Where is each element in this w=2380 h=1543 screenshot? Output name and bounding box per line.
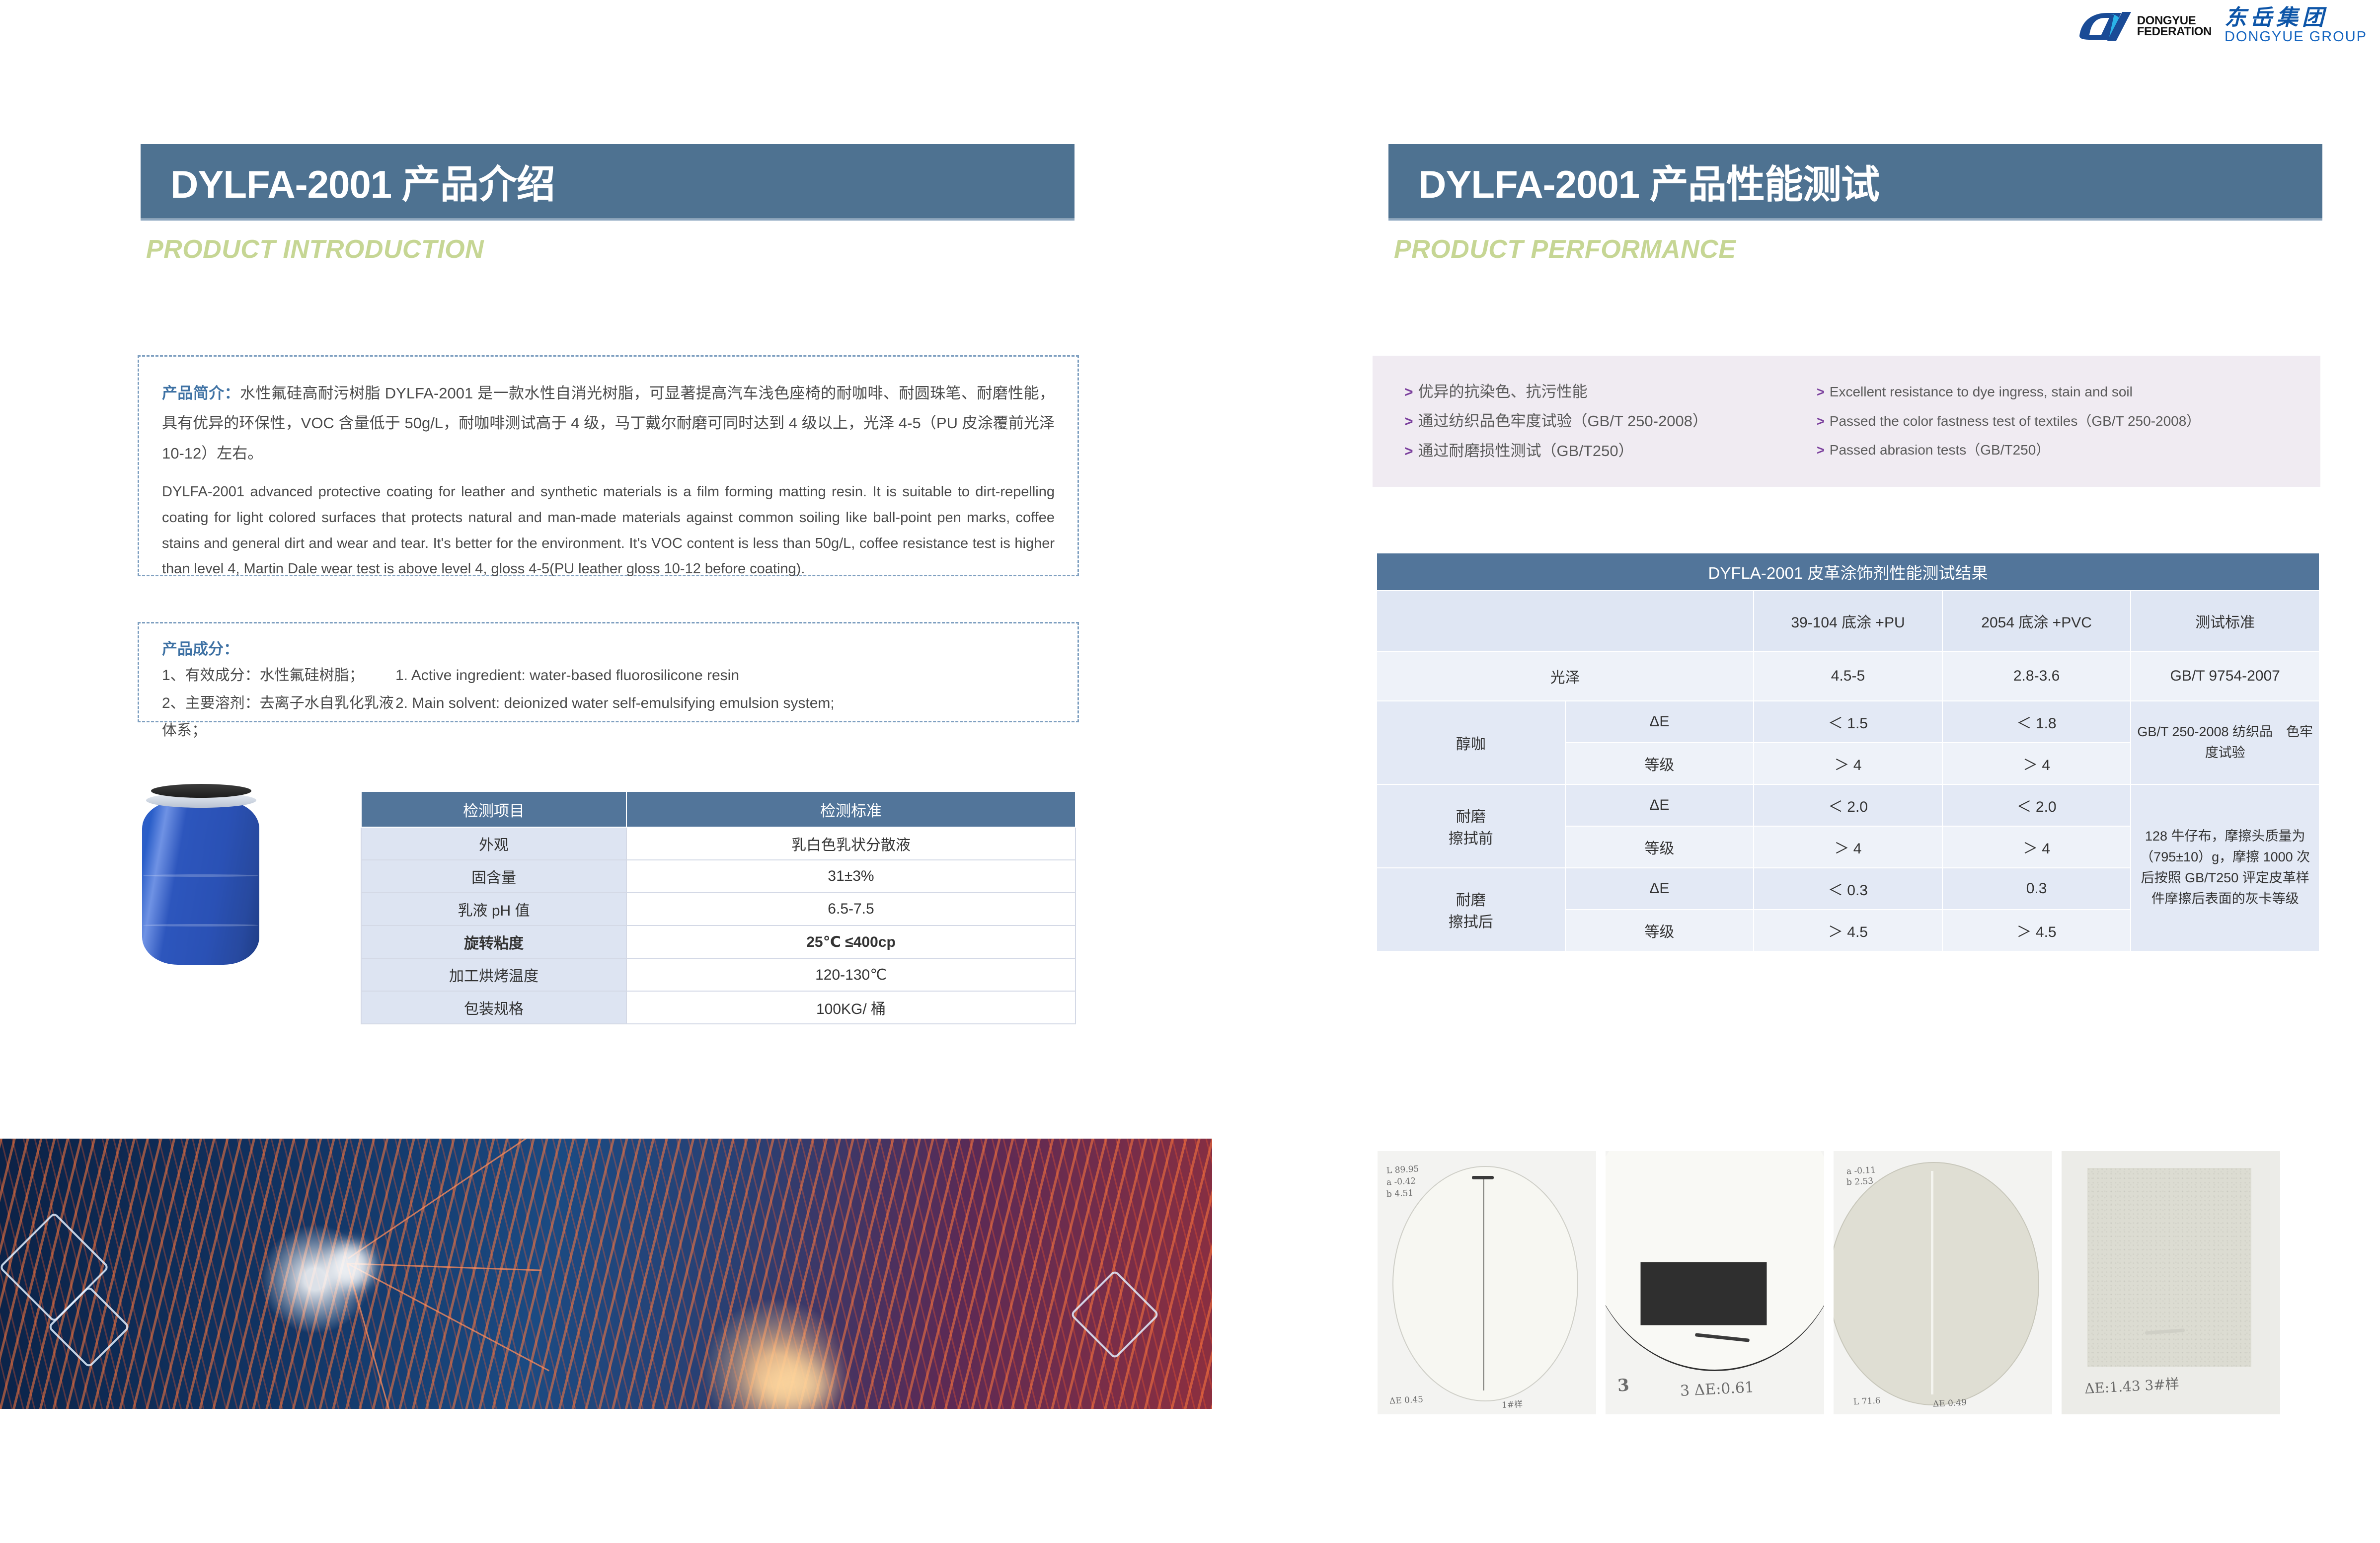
perf-subrow-label: 等级 [1565, 743, 1754, 784]
bullet-label: 通过纺织品色牢度试验（GB/T 250-2008） [1418, 406, 1708, 436]
spec-item: 乳液 pH 值 [361, 893, 626, 926]
perf-value-pu: ＞ 4 [1754, 826, 1942, 868]
intro-lead-label: 产品简介： [162, 385, 240, 402]
dy-swoosh-icon [2078, 11, 2132, 42]
composition-title: 产品成分： [162, 636, 1055, 659]
table-row: 包装规格 100KG/ 桶 [361, 991, 1075, 1024]
dongyue-group-mark: 东岳集团 DONGYUE GROUP [2225, 7, 2367, 45]
table-row-before-de: 耐磨 擦拭前 ΔE ＜ 2.0 ＜ 2.0 128 牛仔布，摩擦头质量为（795… [1377, 784, 2319, 826]
table-row: 加工烘烤温度 120-130℃ [361, 958, 1075, 991]
left-header-title: DYLFA-2001 产品介绍 [141, 154, 555, 209]
performance-bullets-panel: > 优异的抗染色、抗污性能 > 通过纺织品色牢度试验（GB/T 250-2008… [1373, 356, 2320, 487]
specification-table: 检测项目 检测标准 外观 乳白色乳状分散液 固含量 31±3% 乳液 pH 值 … [361, 791, 1076, 1024]
perf-table-caption: DYFLA-2001 皮革涂饰剂性能测试结果 [1377, 553, 2319, 591]
perf-row-label: 耐磨 擦拭前 [1377, 784, 1565, 868]
table-row-coffee-de: 醇咖 ΔE ＜ 1.5 ＜ 1.8 GB/T 250-2008 纺织品 色牢度试… [1377, 701, 2319, 743]
bullet-label: Excellent resistance to dye ingress, sta… [1830, 378, 2133, 407]
left-section-header: DYLFA-2001 产品介绍 [141, 144, 1075, 219]
right-header-rule [1388, 219, 2322, 221]
perf-row-label: 醇咖 [1377, 701, 1565, 784]
perf-subrow-label: 等级 [1565, 826, 1754, 868]
federation-text: DONGYUE FEDERATION [2137, 15, 2212, 37]
perf-value-pu: ＞ 4.5 [1754, 910, 1942, 951]
perf-subrow-label: ΔE [1565, 868, 1754, 910]
spec-item: 加工烘烤温度 [361, 958, 626, 991]
ray-line [347, 1263, 550, 1372]
spec-item: 旋转粘度 [361, 926, 626, 958]
composition-cn-2: 2、主要溶剂：去离子水自乳化乳液体系； [162, 690, 395, 745]
table-row: 乳液 pH 值 6.5-7.5 [361, 893, 1075, 926]
chevron-right-icon: > [1404, 407, 1413, 436]
leather-swatch [2087, 1168, 2251, 1367]
perf-value-pvc: 2.8-3.6 [1942, 651, 2131, 701]
drum-lid [151, 784, 251, 798]
bullet-item: > Passed the color fastness test of text… [1817, 407, 2320, 436]
ray-line [348, 1263, 541, 1271]
bullets-en-column: > Excellent resistance to dye ingress, s… [1817, 356, 2320, 487]
sample-seam [1483, 1177, 1484, 1390]
bullet-label: Passed abrasion tests（GB/T250） [1830, 436, 2050, 465]
performance-results-table: DYFLA-2001 皮革涂饰剂性能测试结果 39-104 底涂 +PU 205… [1376, 552, 2320, 952]
light-burst [755, 1357, 830, 1409]
technology-network-banner [0, 1139, 1212, 1409]
sample-annotation: a -0.11 [1846, 1165, 1876, 1176]
bullet-item: > Passed abrasion tests（GB/T250） [1817, 436, 2320, 465]
sample-photo-grey-oval-panel: a -0.11 b 2.53 L 71.6 ΔE 0.49 [1834, 1151, 2052, 1414]
drum-body [142, 801, 259, 965]
perf-row-label: 光泽 [1377, 651, 1754, 701]
drum-band [143, 924, 258, 926]
perf-standard: 128 牛仔布，摩擦头质量为（795±10）g，摩擦 1000 次后按照 GB/… [2131, 784, 2319, 951]
table-row-gloss: 光泽 4.5-5 2.8-3.6 GB/T 9754-2007 [1377, 651, 2319, 701]
bullet-label: 通过耐磨损性测试（GB/T250） [1418, 436, 1634, 466]
perf-value-pu: ＞ 4 [1754, 743, 1942, 784]
spec-value: 乳白色乳状分散液 [626, 827, 1075, 860]
perf-header-standard: 测试标准 [2131, 591, 2319, 651]
bullet-label: Passed the color fastness test of textil… [1830, 407, 2201, 436]
drum-band [143, 874, 258, 877]
perf-row-label-line1: 耐磨 [1380, 888, 1562, 910]
composition-en-1: 1. Active ingredient: water-based fluoro… [395, 662, 1055, 690]
sample-annotation: b 2.53 [1846, 1176, 1874, 1188]
perf-value-pvc: ＜ 1.8 [1942, 701, 2131, 743]
chevron-right-icon: > [1817, 436, 1825, 464]
ray-line [348, 1139, 579, 1259]
sample-annotation: ΔE 0.45 [1389, 1394, 1424, 1406]
bullet-item: > 通过纺织品色牢度试验（GB/T 250-2008） [1404, 406, 1817, 436]
sample-photo-white-oval-panel: L 89.95 a -0.42 b 4.51 ΔE 0.45 1#样 [1378, 1151, 1596, 1414]
perf-header-pu: 39-104 底涂 +PU [1754, 591, 1942, 651]
spec-item: 包装规格 [361, 991, 626, 1024]
sample-annotation: ΔE 0.49 [1933, 1397, 1967, 1409]
bullet-item: > Excellent resistance to dye ingress, s… [1817, 378, 2320, 407]
sample-photo-white-panel-scratch: 3 3 ΔE:0.61 [1606, 1151, 1824, 1414]
perf-subrow-label: ΔE [1565, 784, 1754, 826]
intro-cn-paragraph: 产品简介：水性氟硅高耐污树脂 DYLFA-2001 是一款水性自消光树脂，可显著… [162, 379, 1055, 468]
blue-drum-photo [135, 775, 268, 984]
spec-item: 外观 [361, 827, 626, 860]
intro-cn-body: 水性氟硅高耐污树脂 DYLFA-2001 是一款水性自消光树脂，可显著提高汽车浅… [162, 385, 1055, 462]
sample-annotation: L 71.6 [1853, 1396, 1881, 1407]
bullet-item: > 优异的抗染色、抗污性能 [1404, 377, 1817, 407]
perf-standard: GB/T 9754-2007 [2131, 651, 2319, 701]
bullets-cn-column: > 优异的抗染色、抗污性能 > 通过纺织品色牢度试验（GB/T 250-2008… [1373, 356, 1817, 487]
right-header-subtitle: PRODUCT PERFORMANCE [1394, 234, 1736, 264]
product-composition-box: 产品成分： 1、有效成分：水性氟硅树脂； 1. Active ingredien… [138, 622, 1079, 722]
federation-line2: FEDERATION [2137, 26, 2212, 37]
perf-value-pu: ＜ 1.5 [1754, 701, 1942, 743]
bullet-item: > 通过耐磨损性测试（GB/T250） [1404, 436, 1817, 466]
perf-value-pvc: ＞ 4 [1942, 826, 2131, 868]
perf-value-pvc: ＜ 2.0 [1942, 784, 2131, 826]
chevron-right-icon: > [1404, 378, 1413, 407]
spec-value: 120-130℃ [626, 958, 1075, 991]
dongyue-logo: DONGYUE FEDERATION 东岳集团 DONGYUE GROUP [2078, 7, 2367, 45]
right-section-header: DYLFA-2001 产品性能测试 [1388, 144, 2322, 219]
composition-row: 2、主要溶剂：去离子水自乳化乳液体系； 2. Main solvent: dei… [162, 690, 1055, 745]
spec-value: 25℃ ≤400cp [626, 926, 1075, 958]
diamond-shape [1070, 1269, 1159, 1359]
left-header-rule [141, 219, 1075, 221]
spec-header-standard: 检测标准 [626, 791, 1075, 827]
sample-annotation: 1#样 [1501, 1397, 1523, 1410]
brochure-page: DONGYUE FEDERATION 东岳集团 DONGYUE GROUP DY… [0, 0, 2380, 1543]
intro-en-paragraph: DYLFA-2001 advanced protective coating f… [162, 479, 1055, 582]
perf-row-label-line1: 耐磨 [1380, 804, 1562, 826]
table-header-row: 检测项目 检测标准 [361, 791, 1075, 827]
perf-value-pvc: ＞ 4.5 [1942, 910, 2131, 951]
perf-standard: GB/T 250-2008 纺织品 色牢度试验 [2131, 701, 2319, 784]
table-caption-row: DYFLA-2001 皮革涂饰剂性能测试结果 [1377, 553, 2319, 591]
spec-item: 固含量 [361, 860, 626, 893]
chevron-right-icon: > [1404, 437, 1413, 466]
spec-value: 100KG/ 桶 [626, 991, 1075, 1024]
sample-annotation: L 89.95 [1386, 1164, 1419, 1175]
spec-header-item: 检测项目 [361, 791, 626, 827]
perf-value-pu: 4.5-5 [1754, 651, 1942, 701]
spec-value: 6.5-7.5 [626, 893, 1075, 926]
perf-row-label: 耐磨 擦拭后 [1377, 868, 1565, 951]
right-header-title: DYLFA-2001 产品性能测试 [1388, 154, 1879, 209]
sample-oval [1834, 1162, 2039, 1405]
sample-annotation: 3 [1617, 1375, 1630, 1395]
sample-annotation: a -0.42 [1386, 1176, 1416, 1187]
perf-subrow-label: ΔE [1565, 701, 1754, 743]
sample-annotation: ΔE:1.43 3#样 [2084, 1373, 2179, 1398]
spec-value: 31±3% [626, 860, 1075, 893]
table-header-row: 39-104 底涂 +PU 2054 底涂 +PVC 测试标准 [1377, 591, 2319, 651]
perf-row-label-line2: 擦拭后 [1380, 910, 1562, 931]
dongyue-chinese-name: 东岳集团 [2225, 7, 2328, 29]
dongyue-group-en: DONGYUE GROUP [2225, 29, 2367, 45]
sample-scratch-mark [1472, 1176, 1494, 1179]
dongyue-federation-mark: DONGYUE FEDERATION [2078, 11, 2212, 42]
chevron-right-icon: > [1817, 378, 1825, 406]
perf-header-pvc: 2054 底涂 +PVC [1942, 591, 2131, 651]
perf-value-pu: ＜ 2.0 [1754, 784, 1942, 826]
table-row: 固含量 31±3% [361, 860, 1075, 893]
sample-photo-grey-leather-swatch: ΔE:1.43 3#样 [2062, 1151, 2280, 1414]
perf-value-pvc: ＞ 4 [1942, 743, 2131, 784]
light-burst [328, 1243, 374, 1289]
table-row: 外观 乳白色乳状分散液 [361, 827, 1075, 860]
perf-value-pvc: 0.3 [1942, 868, 2131, 910]
perf-value-pu: ＜ 0.3 [1754, 868, 1942, 910]
left-header-subtitle: PRODUCT INTRODUCTION [146, 234, 484, 264]
composition-en-2: 2. Main solvent: deionized water self-em… [395, 690, 1055, 745]
chevron-right-icon: > [1817, 407, 1825, 436]
composition-row: 1、有效成分：水性氟硅树脂； 1. Active ingredient: wat… [162, 662, 1055, 690]
table-row: 旋转粘度 25℃ ≤400cp [361, 926, 1075, 958]
sample-oval [1392, 1166, 1578, 1401]
composition-cn-1: 1、有效成分：水性氟硅树脂； [162, 662, 395, 690]
sample-annotation: 3 ΔE:0.61 [1680, 1379, 1755, 1400]
perf-row-label-line2: 擦拭前 [1380, 826, 1562, 848]
bullet-label: 优异的抗染色、抗污性能 [1418, 377, 1588, 407]
product-introduction-box: 产品简介：水性氟硅高耐污树脂 DYLFA-2001 是一款水性自消光树脂，可显著… [138, 355, 1079, 576]
perf-subrow-label: 等级 [1565, 910, 1754, 951]
perf-header-blank [1377, 591, 1754, 651]
sample-seam [1931, 1171, 1933, 1394]
sample-annotation: b 4.51 [1386, 1188, 1414, 1200]
